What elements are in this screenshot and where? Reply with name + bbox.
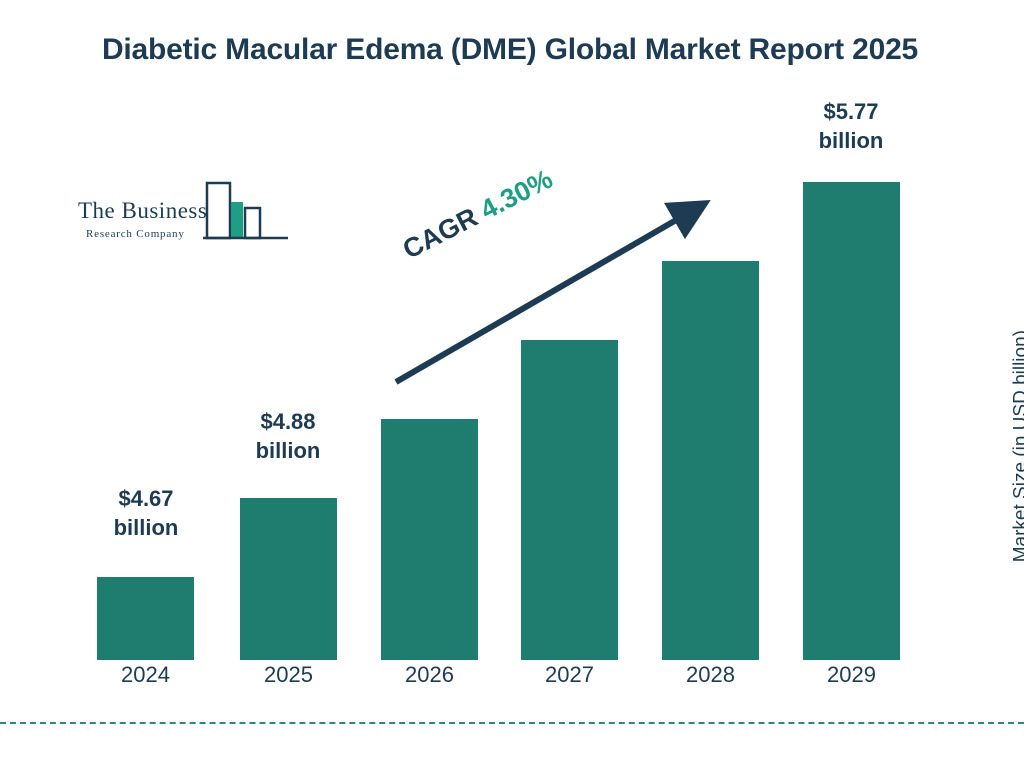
bar-2026 [381, 419, 478, 660]
bottom-divider [0, 722, 1024, 724]
bar-2029 [803, 182, 900, 660]
bar-2028 [662, 261, 759, 660]
x-tick-2028: 2028 [662, 662, 759, 688]
x-tick-2024: 2024 [97, 662, 194, 688]
chart-page: Diabetic Macular Edema (DME) Global Mark… [0, 0, 1024, 768]
bar-chart-plot: $4.67 billion $4.88 billion $5.77 billio… [0, 0, 1024, 768]
bar-2025 [240, 498, 337, 660]
bar-value-label-2029: $5.77 billion [777, 98, 925, 155]
x-tick-2025: 2025 [240, 662, 337, 688]
bar-value-label-2024: $4.67 billion [72, 485, 220, 542]
x-tick-2026: 2026 [381, 662, 478, 688]
x-tick-2029: 2029 [803, 662, 900, 688]
y-axis-title: Market Size (in USD billion) [1010, 330, 1024, 562]
bar-value-label-2025: $4.88 billion [214, 408, 362, 465]
bar-2027 [521, 340, 618, 660]
bar-2024 [97, 577, 194, 660]
x-tick-2027: 2027 [521, 662, 618, 688]
